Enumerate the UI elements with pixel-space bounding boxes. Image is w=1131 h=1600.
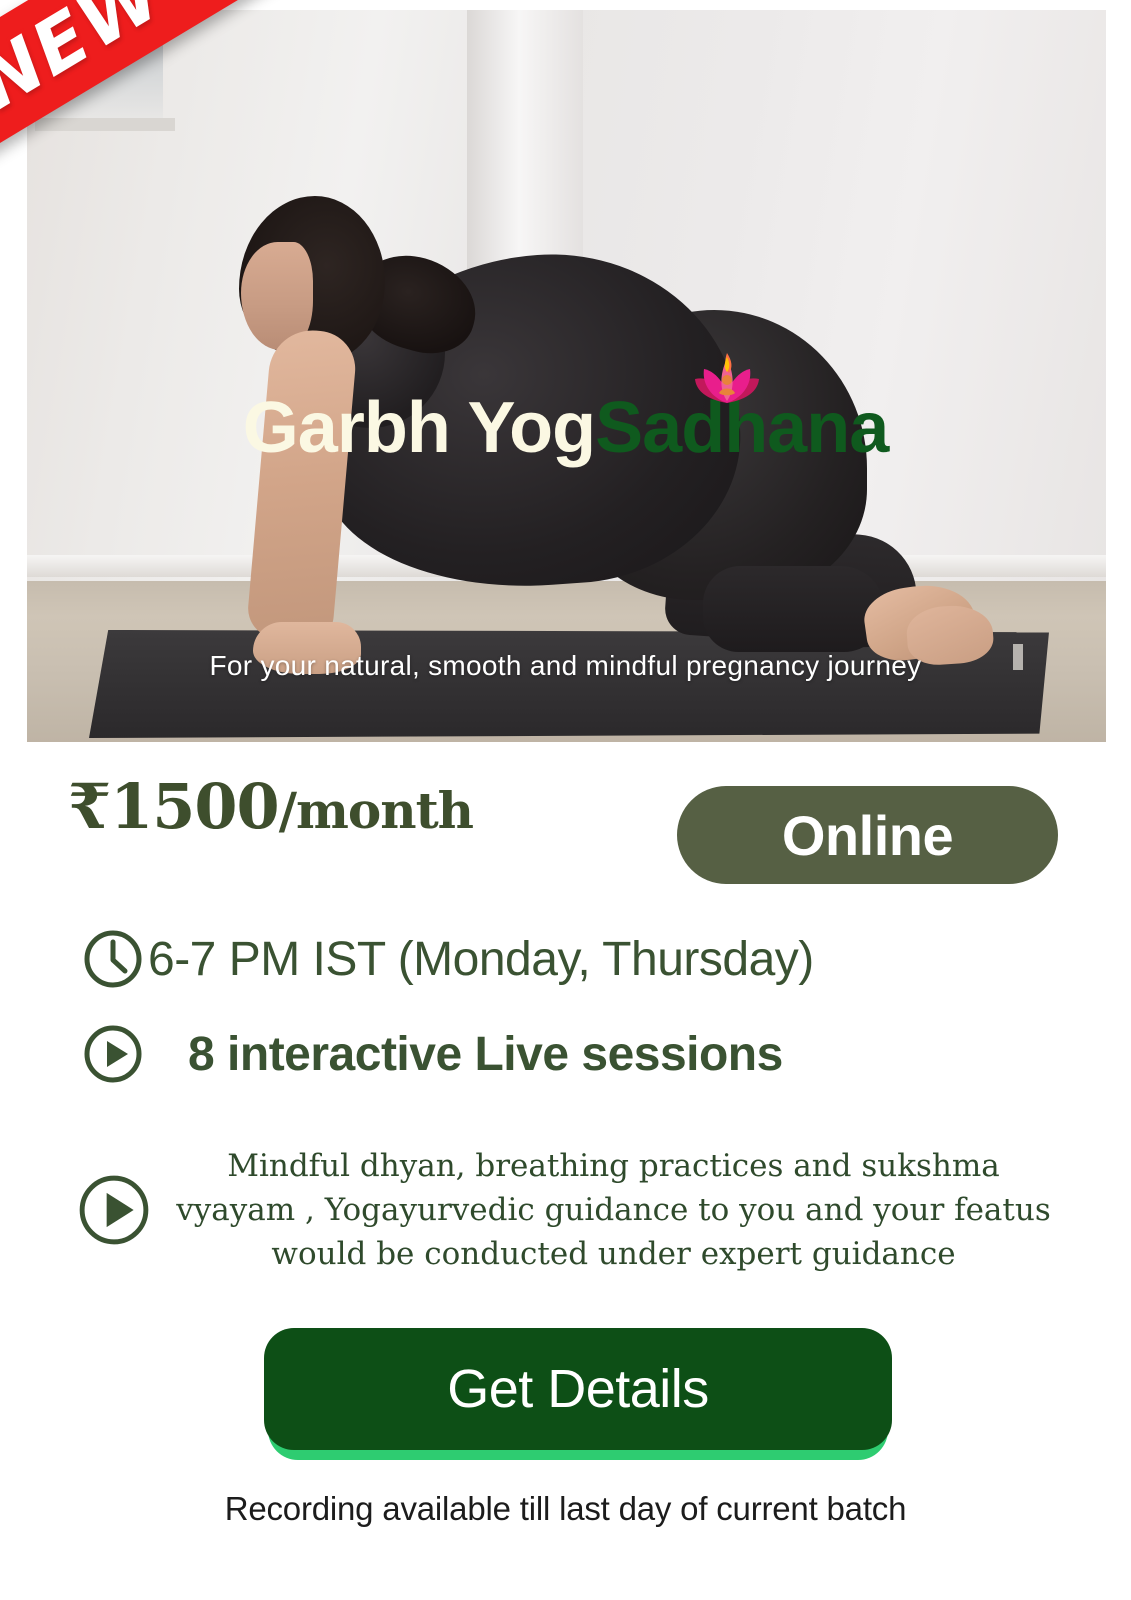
- feature-text-schedule: 6-7 PM IST (Monday, Thursday): [148, 932, 814, 987]
- photo-window-sill: [35, 118, 175, 131]
- feature-text-description: Mindful dhyan, breathing practices and s…: [166, 1144, 1061, 1276]
- clock-icon: [82, 928, 144, 990]
- photo-figure-knee: [703, 566, 885, 652]
- hero-subtitle: For your natural, smooth and mindful pre…: [0, 650, 1131, 682]
- footnote-recording-availability: Recording available till last day of cur…: [0, 1490, 1131, 1528]
- lotus-icon: [694, 349, 760, 405]
- price-amount: ₹1500: [68, 770, 279, 843]
- course-promo-poster: NEW Garbh YogSadhana For your natural, s…: [0, 0, 1131, 1600]
- price-period: /month: [279, 781, 473, 840]
- mode-badge-online: Online: [677, 786, 1058, 884]
- price-display: ₹1500/month: [68, 770, 473, 843]
- play-icon: [76, 1172, 152, 1248]
- get-details-button[interactable]: Get Details: [264, 1328, 892, 1450]
- feature-item-schedule: 6-7 PM IST (Monday, Thursday): [0, 912, 1131, 1006]
- page-title: Garbh YogSadhana: [0, 392, 1131, 464]
- hero-photo: [27, 10, 1106, 742]
- feature-text-sessions: 8 interactive Live sessions: [188, 1027, 783, 1082]
- play-icon: [82, 1023, 144, 1085]
- feature-item-description: Mindful dhyan, breathing practices and s…: [0, 1144, 1131, 1276]
- page-title-part-1: Garbh Yog: [243, 388, 595, 468]
- cta-container: Get Details: [264, 1328, 892, 1460]
- feature-list: 6-7 PM IST (Monday, Thursday) 8 interact…: [0, 912, 1131, 1276]
- feature-item-sessions: 8 interactive Live sessions: [0, 1006, 1131, 1102]
